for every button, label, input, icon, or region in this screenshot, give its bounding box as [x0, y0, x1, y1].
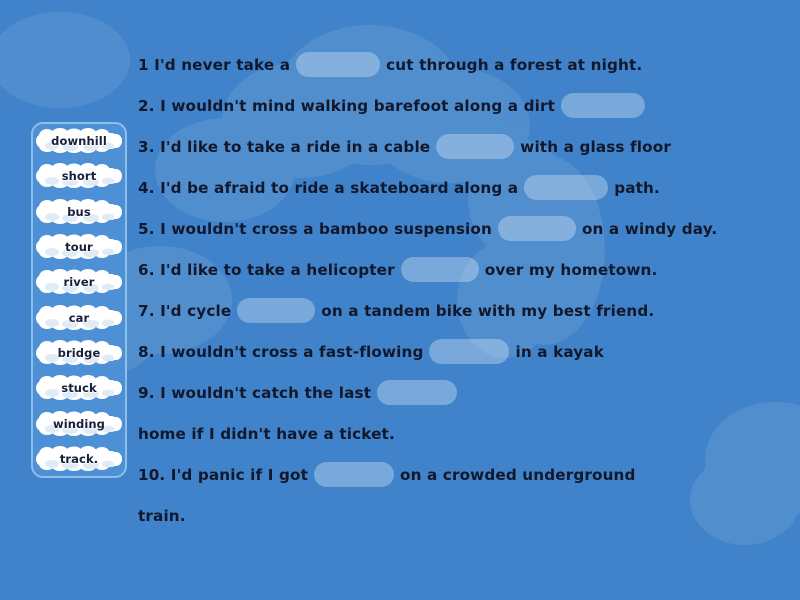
- sentence-text: path.: [614, 179, 660, 197]
- word-tile-label: stuck: [61, 381, 97, 395]
- word-tile[interactable]: car: [36, 305, 122, 331]
- sentence-line: 6. I'd like to take a helicopterover my …: [138, 249, 788, 290]
- sentence-text: home if I didn't have a ticket.: [138, 425, 395, 443]
- word-tile-label: short: [62, 169, 97, 183]
- word-tile[interactable]: short: [36, 163, 122, 189]
- sentence-line: 2. I wouldn't mind walking barefoot alon…: [138, 85, 788, 126]
- sentence-text: 6. I'd like to take a helicopter: [138, 261, 395, 279]
- sentence-text: 1 I'd never take a: [138, 56, 290, 74]
- answer-blank-slot[interactable]: [436, 134, 514, 159]
- sentence-text: 8. I wouldn't cross a fast-flowing: [138, 343, 423, 361]
- sentence-text: 9. I wouldn't catch the last: [138, 384, 371, 402]
- sentences-container: 1 I'd never take acut through a forest a…: [138, 44, 788, 536]
- sentence-line: 1 I'd never take acut through a forest a…: [138, 44, 788, 85]
- sentence-text: 10. I'd panic if I got: [138, 466, 308, 484]
- sentence-text: train.: [138, 507, 186, 525]
- sentence-text: in a kayak: [515, 343, 603, 361]
- sentence-text: with a glass floor: [520, 138, 671, 156]
- word-tile[interactable]: tour: [36, 234, 122, 260]
- sentence-line: 3. I'd like to take a ride in a cablewit…: [138, 126, 788, 167]
- sentence-text: on a crowded underground: [400, 466, 636, 484]
- answer-blank-slot[interactable]: [296, 52, 380, 77]
- sentence-line: 8. I wouldn't cross a fast-flowingin a k…: [138, 331, 788, 372]
- word-tile[interactable]: winding: [36, 411, 122, 437]
- word-tile-label: bridge: [58, 346, 101, 360]
- sentence-text: cut through a forest at night.: [386, 56, 642, 74]
- word-tile[interactable]: downhill: [36, 128, 122, 154]
- sentence-line: home if I didn't have a ticket.: [138, 413, 788, 454]
- word-tile[interactable]: river: [36, 269, 122, 295]
- sentence-text: over my hometown.: [485, 261, 658, 279]
- word-tile-label: tour: [65, 240, 93, 254]
- word-tile[interactable]: track.: [36, 446, 122, 472]
- sentence-line: train.: [138, 495, 788, 536]
- answer-blank-slot[interactable]: [429, 339, 509, 364]
- answer-blank-slot[interactable]: [237, 298, 315, 323]
- sentence-text: 7. I'd cycle: [138, 302, 231, 320]
- sentence-line: 10. I'd panic if I goton a crowded under…: [138, 454, 788, 495]
- word-bank-panel: downhillshortbustourrivercarbridgestuckw…: [31, 122, 127, 478]
- word-tile[interactable]: bus: [36, 199, 122, 225]
- word-tile-label: winding: [53, 417, 105, 431]
- sentence-text: on a windy day.: [582, 220, 717, 238]
- sentence-text: on a tandem bike with my best friend.: [321, 302, 654, 320]
- sentence-line: 7. I'd cycleon a tandem bike with my bes…: [138, 290, 788, 331]
- answer-blank-slot[interactable]: [401, 257, 479, 282]
- answer-blank-slot[interactable]: [314, 462, 394, 487]
- word-tile-label: downhill: [51, 134, 107, 148]
- answer-blank-slot[interactable]: [561, 93, 645, 118]
- answer-blank-slot[interactable]: [524, 175, 608, 200]
- answer-blank-slot[interactable]: [377, 380, 457, 405]
- sentence-line: 4. I'd be afraid to ride a skateboard al…: [138, 167, 788, 208]
- sentence-line: 5. I wouldn't cross a bamboo suspensiono…: [138, 208, 788, 249]
- word-tile[interactable]: bridge: [36, 340, 122, 366]
- word-tile-label: bus: [67, 205, 91, 219]
- word-tile-label: track.: [60, 452, 98, 466]
- word-tile-label: river: [63, 275, 94, 289]
- sentence-text: 4. I'd be afraid to ride a skateboard al…: [138, 179, 518, 197]
- word-tile[interactable]: stuck: [36, 375, 122, 401]
- answer-blank-slot[interactable]: [498, 216, 576, 241]
- word-tile-label: car: [69, 311, 90, 325]
- sentence-line: 9. I wouldn't catch the last: [138, 372, 788, 413]
- sentence-text: 2. I wouldn't mind walking barefoot alon…: [138, 97, 555, 115]
- sentence-text: 5. I wouldn't cross a bamboo suspension: [138, 220, 492, 238]
- sentence-text: 3. I'd like to take a ride in a cable: [138, 138, 430, 156]
